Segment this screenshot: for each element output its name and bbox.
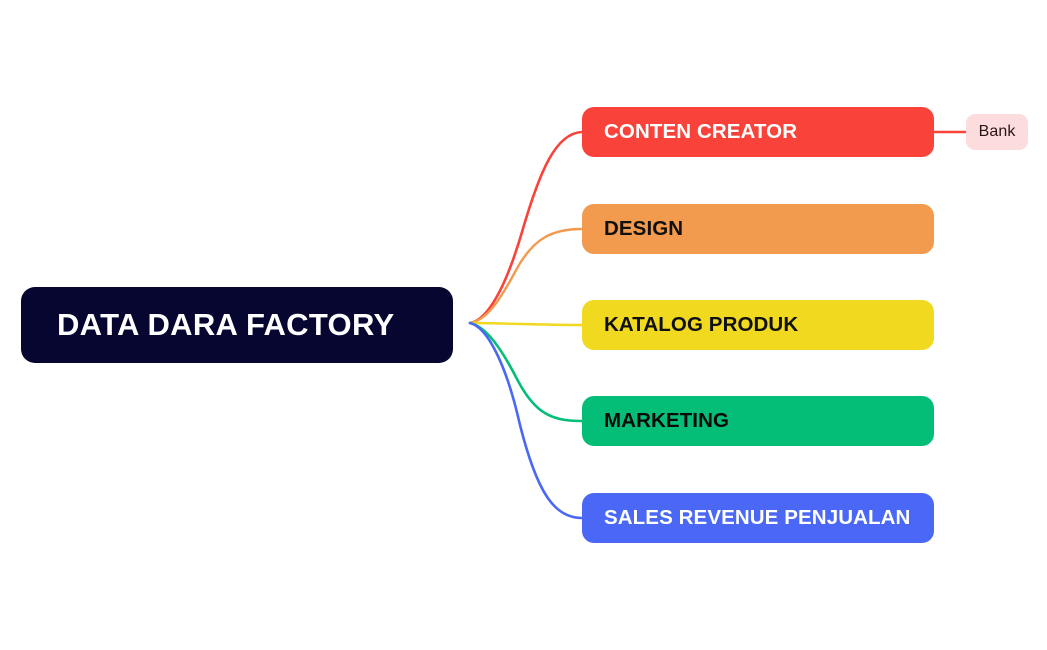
branch-node-label: DESIGN [604, 217, 683, 241]
branch-node-label: CONTEN CREATOR [604, 120, 797, 144]
connector-root-to-katalog-produk [470, 323, 582, 325]
branch-node-design[interactable]: DESIGN [582, 204, 934, 254]
mindmap-canvas: DATA DARA FACTORY CONTEN CREATOR DESIGN … [0, 0, 1047, 650]
branch-node-label: KATALOG PRODUK [604, 313, 798, 337]
leaf-node-label: Bank [979, 123, 1016, 141]
root-node-label: DATA DARA FACTORY [57, 307, 394, 343]
root-node[interactable]: DATA DARA FACTORY [21, 287, 453, 363]
branch-node-label: SALES REVENUE PENJUALAN [604, 506, 910, 530]
connector-root-to-sales-revenue [470, 323, 582, 518]
connector-root-to-design [470, 229, 582, 323]
branch-node-label: MARKETING [604, 409, 729, 433]
branch-node-marketing[interactable]: MARKETING [582, 396, 934, 446]
connector-root-to-marketing [470, 323, 582, 421]
branch-node-sales-revenue-penjualan[interactable]: SALES REVENUE PENJUALAN [582, 493, 934, 543]
branch-node-conten-creator[interactable]: CONTEN CREATOR [582, 107, 934, 157]
branch-node-katalog-produk[interactable]: KATALOG PRODUK [582, 300, 934, 350]
leaf-node-bank[interactable]: Bank [966, 114, 1028, 150]
connector-root-to-conten-creator [470, 132, 582, 323]
